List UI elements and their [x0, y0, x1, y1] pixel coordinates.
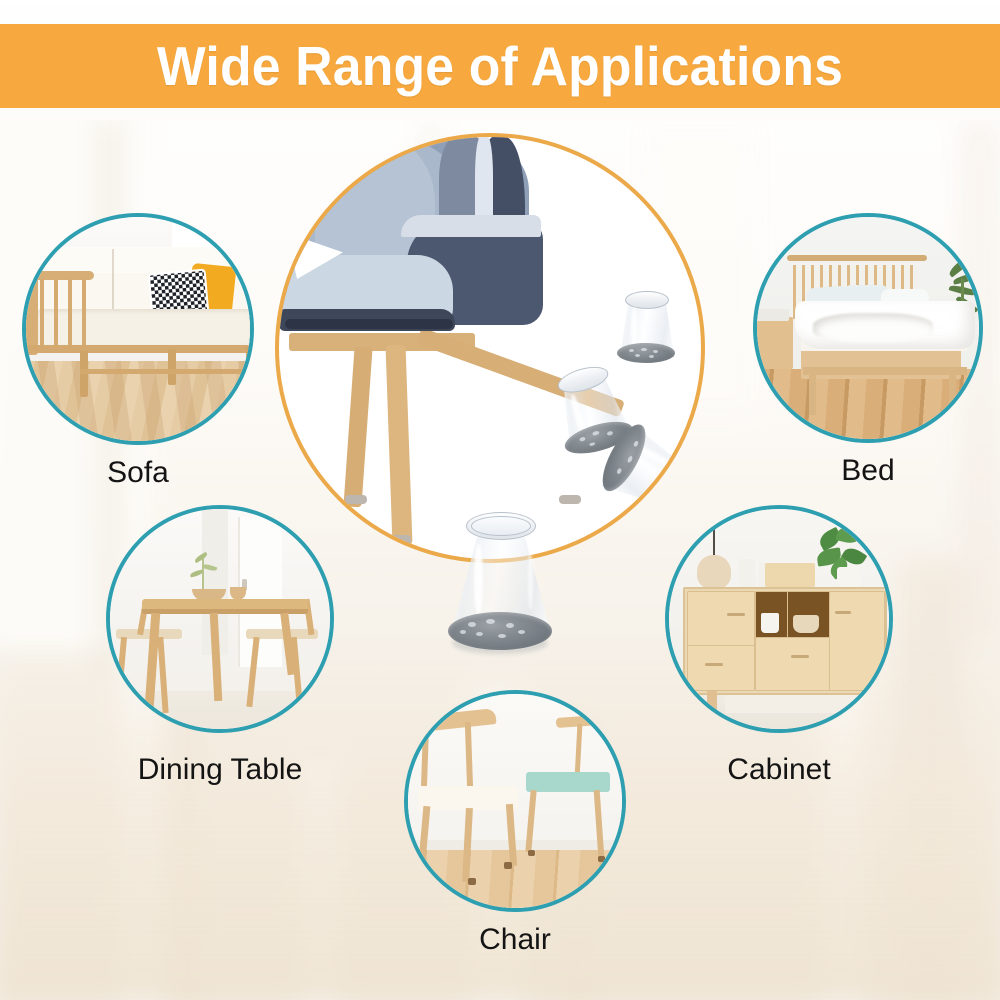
- application-circle-bed[interactable]: [753, 213, 983, 443]
- chair-scene: [404, 690, 626, 912]
- silicone-leg-cap: [615, 285, 677, 365]
- bed-scene: [753, 213, 983, 443]
- hero-scene: [279, 137, 701, 559]
- application-label-cabinet: Cabinet: [659, 755, 899, 785]
- application-circle-sofa[interactable]: [22, 213, 254, 445]
- hero-product-circle[interactable]: [275, 133, 705, 563]
- application-circle-chair[interactable]: [404, 690, 626, 912]
- application-label-sofa: Sofa: [22, 458, 254, 488]
- application-label-dining-table: Dining Table: [86, 755, 354, 785]
- banner-title: Wide Range of Applications: [157, 39, 843, 94]
- application-label-chair: Chair: [404, 925, 626, 955]
- silicone-leg-cap-hero: [440, 504, 560, 656]
- application-label-bed: Bed: [753, 456, 983, 486]
- sofa-scene: [22, 213, 254, 445]
- header-banner: Wide Range of Applications: [0, 24, 1000, 108]
- product-marketing-image: Wide Range of Applications: [0, 0, 1000, 1000]
